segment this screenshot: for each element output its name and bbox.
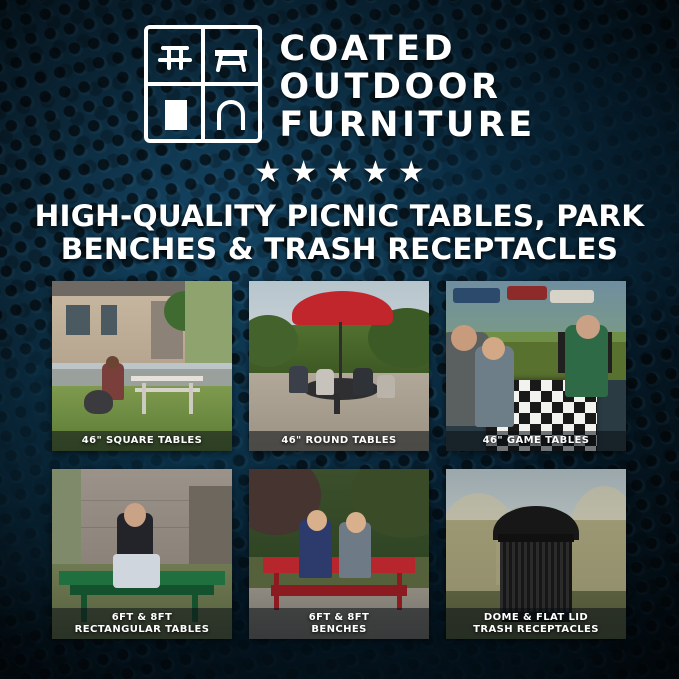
product-tile-trash-receptacles: DOME & FLAT LID TRASH RECEPTACLES xyxy=(446,469,626,639)
product-tile-game-tables: 46" GAME TABLES xyxy=(446,281,626,451)
product-caption-line-2: TRASH RECEPTACLES xyxy=(473,624,599,635)
product-caption-line-2: BENCHES xyxy=(311,624,366,635)
product-caption: DOME & FLAT LID TRASH RECEPTACLES xyxy=(446,608,626,639)
brand-name-line-2: OUTDOOR xyxy=(279,68,535,106)
product-caption: 46" SQUARE TABLES xyxy=(52,431,232,452)
brand-name-line-3: FURNITURE xyxy=(279,106,535,144)
ad-content: COATED OUTDOOR FURNITURE ★ ★ ★ ★ ★ HIGH-… xyxy=(0,0,679,679)
brand-wordmark: COATED OUTDOOR FURNITURE xyxy=(279,24,535,144)
product-caption-line-1: 6FT & 8FT xyxy=(309,612,370,623)
product-caption-line-1: DOME & FLAT LID xyxy=(484,612,588,623)
square-picnic-table-photo xyxy=(52,281,232,451)
star-icon: ★ xyxy=(290,158,317,188)
product-ad-image: COATED OUTDOOR FURNITURE ★ ★ ★ ★ ★ HIGH-… xyxy=(0,0,679,679)
headline: HIGH-QUALITY PICNIC TABLES, PARK BENCHES… xyxy=(28,200,651,266)
product-grid: 46" SQUARE TABLES xyxy=(52,281,627,639)
product-caption: 6FT & 8FT RECTANGULAR TABLES xyxy=(52,608,232,639)
product-caption-line-2: RECTANGULAR TABLES xyxy=(75,624,210,635)
coated-outdoor-furniture-logo-icon xyxy=(143,24,263,144)
star-rating: ★ ★ ★ ★ ★ xyxy=(0,158,679,188)
star-icon: ★ xyxy=(254,158,281,188)
star-icon: ★ xyxy=(398,158,425,188)
headline-line-2: BENCHES & TRASH RECEPTACLES xyxy=(28,233,651,266)
product-caption: 46" GAME TABLES xyxy=(446,431,626,452)
game-table-photo xyxy=(446,281,626,451)
product-tile-round-tables: 46" ROUND TABLES xyxy=(249,281,429,451)
headline-line-1: HIGH-QUALITY PICNIC TABLES, PARK xyxy=(35,199,645,233)
brand-logo: COATED OUTDOOR FURNITURE xyxy=(0,24,679,144)
product-caption: 6FT & 8FT BENCHES xyxy=(249,608,429,639)
product-caption-line-1: 6FT & 8FT xyxy=(112,612,173,623)
product-tile-square-tables: 46" SQUARE TABLES xyxy=(52,281,232,451)
product-tile-rectangular-tables: 6FT & 8FT RECTANGULAR TABLES xyxy=(52,469,232,639)
star-icon: ★ xyxy=(362,158,389,188)
round-picnic-table-photo xyxy=(249,281,429,451)
brand-name-line-1: COATED xyxy=(279,30,535,68)
star-icon: ★ xyxy=(326,158,353,188)
product-tile-benches: 6FT & 8FT BENCHES xyxy=(249,469,429,639)
product-caption: 46" ROUND TABLES xyxy=(249,431,429,452)
